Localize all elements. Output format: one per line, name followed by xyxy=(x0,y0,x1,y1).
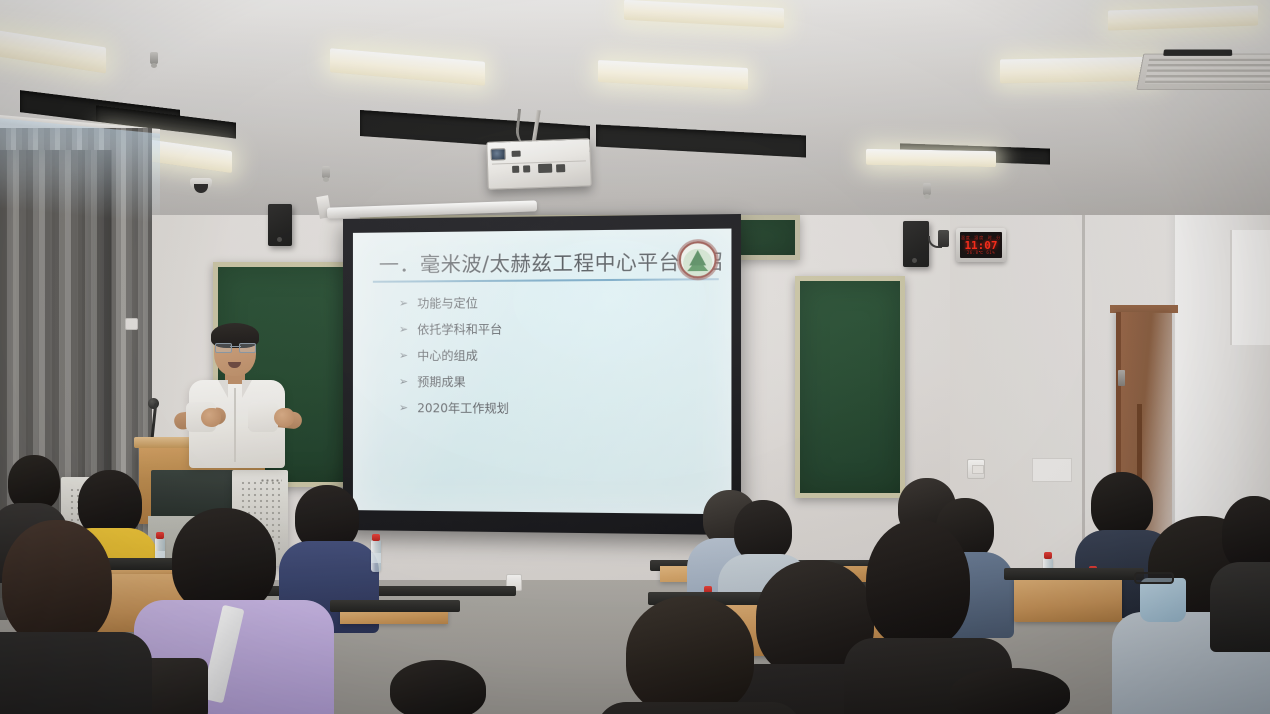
person-torso xyxy=(596,702,802,714)
presenter-hand-right xyxy=(274,408,294,427)
person-hair xyxy=(734,500,792,562)
presenter-collar xyxy=(242,380,252,398)
led-clock-time: 11:07 xyxy=(964,240,997,251)
slide-title: 一．毫米波/太赫兹工程中心平台介绍 xyxy=(379,246,671,278)
ceiling-light-panel xyxy=(1000,57,1160,84)
seat-back xyxy=(1014,576,1122,622)
slide-bullet-item: ➢ 功能与定位 xyxy=(399,293,710,312)
person-hair xyxy=(626,596,754,714)
door-hinge xyxy=(1118,370,1125,386)
person-hair xyxy=(1222,496,1270,572)
projector-indicator xyxy=(512,151,521,157)
slide-bullet-list: ➢ 功能与定位 ➢ 依托学科和平台 ➢ 中心的组成 ➢ 预期成果 ➢ 202 xyxy=(399,293,710,427)
wall-speaker-left xyxy=(268,204,292,246)
bullet-text: 功能与定位 xyxy=(417,294,478,311)
projector-port xyxy=(512,166,519,173)
bullet-arrow-icon: ➢ xyxy=(399,323,408,336)
desk-rail xyxy=(1004,568,1144,580)
bullet-text: 依托学科和平台 xyxy=(417,320,502,337)
water-bottle xyxy=(371,540,381,572)
air-vent xyxy=(1136,54,1270,90)
wall-speaker-right xyxy=(903,221,929,267)
person-hair xyxy=(1091,472,1153,538)
sprinkler-head xyxy=(150,52,158,64)
university-seal-emblem-icon xyxy=(677,239,719,281)
presenter-glasses-icon xyxy=(215,343,256,351)
speaker-vent-dots xyxy=(260,478,282,482)
wall-notice-panel xyxy=(1032,458,1072,482)
person-hair xyxy=(866,520,970,648)
projected-slide: 一．毫米波/太赫兹工程中心平台介绍 ➢ 功能与定位 ➢ 依托学科和平台 ➢ xyxy=(353,229,732,515)
bullet-text: 中心的组成 xyxy=(417,347,478,364)
desk-rail xyxy=(330,600,460,612)
seal-tree-icon xyxy=(689,250,706,266)
slide-bullet-item: ➢ 中心的组成 xyxy=(399,346,710,364)
blackboard-right xyxy=(795,276,905,498)
presenter-shirt-placket xyxy=(234,388,236,462)
eyeglasses-icon xyxy=(1134,572,1174,584)
slide-bullet-item: ➢ 依托学科和平台 xyxy=(399,319,710,337)
person-hair xyxy=(2,520,112,646)
person-hair xyxy=(950,668,1070,714)
bottle-cap xyxy=(156,532,164,539)
projector-port xyxy=(538,164,552,173)
ceiling-light-panel xyxy=(866,149,996,167)
bullet-text: 2020年工作规划 xyxy=(417,399,509,416)
bottle-label xyxy=(371,553,381,563)
bullet-arrow-icon: ➢ xyxy=(399,375,408,388)
bullet-text: 预期成果 xyxy=(417,373,465,390)
person-torso xyxy=(1210,562,1270,652)
presenter-hand-left xyxy=(201,408,221,427)
ceiling-projector xyxy=(486,138,592,190)
led-clock-display: 温度 湿度 时 分 11:07 26.8℃ 61% xyxy=(960,232,1002,258)
face-mask-icon xyxy=(1140,578,1186,622)
bullet-arrow-icon: ➢ xyxy=(399,401,408,414)
person-hair xyxy=(172,508,276,614)
slide-bullet-item: ➢ 预期成果 xyxy=(399,373,710,391)
projector-lens-icon xyxy=(490,148,505,161)
bullet-arrow-icon: ➢ xyxy=(399,297,408,310)
glasses-bridge xyxy=(230,346,241,347)
bullet-arrow-icon: ➢ xyxy=(399,349,408,362)
slide-bullet-item: ➢ 2020年工作规划 xyxy=(399,399,710,417)
presenter xyxy=(178,326,296,466)
bottle-cap xyxy=(372,534,380,541)
person-torso xyxy=(0,632,152,714)
light-switch[interactable] xyxy=(967,459,985,479)
led-clock: 温度 湿度 时 分 11:07 26.8℃ 61% xyxy=(956,228,1006,262)
projection-screen: 一．毫米波/太赫兹工程中心平台介绍 ➢ 功能与定位 ➢ 依托学科和平台 ➢ xyxy=(343,214,741,535)
projector-port xyxy=(523,165,530,172)
wall-outlet xyxy=(125,318,138,330)
presenter-collar xyxy=(218,380,228,398)
person-hair xyxy=(390,660,486,714)
led-clock-readout: 26.8℃ 61% xyxy=(967,251,995,255)
sprinkler-head xyxy=(322,166,330,178)
lecture-hall-scene: 一．毫米波/太赫兹工程中心平台介绍 ➢ 功能与定位 ➢ 依托学科和平台 ➢ xyxy=(0,0,1270,714)
sprinkler-head xyxy=(923,183,931,195)
clock-power-adapter xyxy=(938,230,949,247)
wall-nook xyxy=(1230,230,1270,345)
projector-port xyxy=(556,164,565,172)
slide-title-rule xyxy=(373,278,719,283)
curtain-daylight-glow xyxy=(0,118,160,223)
bottle-cap xyxy=(1044,552,1052,559)
